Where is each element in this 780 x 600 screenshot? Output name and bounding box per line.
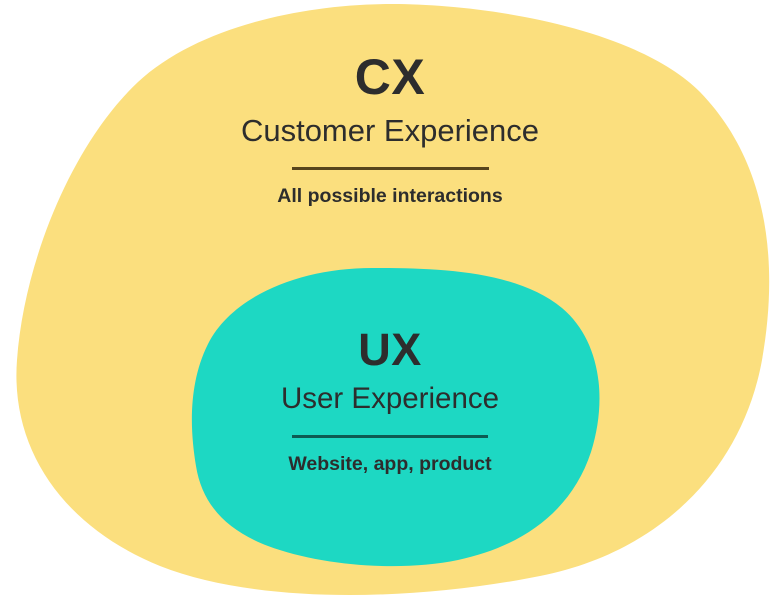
- ux-full-name: User Experience: [0, 384, 780, 414]
- ux-abbreviation: UX: [0, 327, 780, 372]
- ux-text-group: UX User Experience Website, app, product: [0, 327, 780, 474]
- cx-spacer-2: [0, 146, 780, 167]
- ux-divider-rule: [292, 435, 488, 438]
- cx-text-group: CX Customer Experience All possible inte…: [0, 52, 780, 207]
- diagram-canvas: CX Customer Experience All possible inte…: [0, 0, 780, 600]
- ux-note: Website, app, product: [0, 455, 780, 475]
- ux-spacer-3: [0, 438, 780, 455]
- ux-spacer-2: [0, 414, 780, 435]
- cx-note: All possible interactions: [0, 187, 780, 207]
- cx-full-name: Customer Experience: [0, 115, 780, 146]
- cx-abbreviation: CX: [0, 52, 780, 102]
- cx-divider-rule: [292, 167, 489, 170]
